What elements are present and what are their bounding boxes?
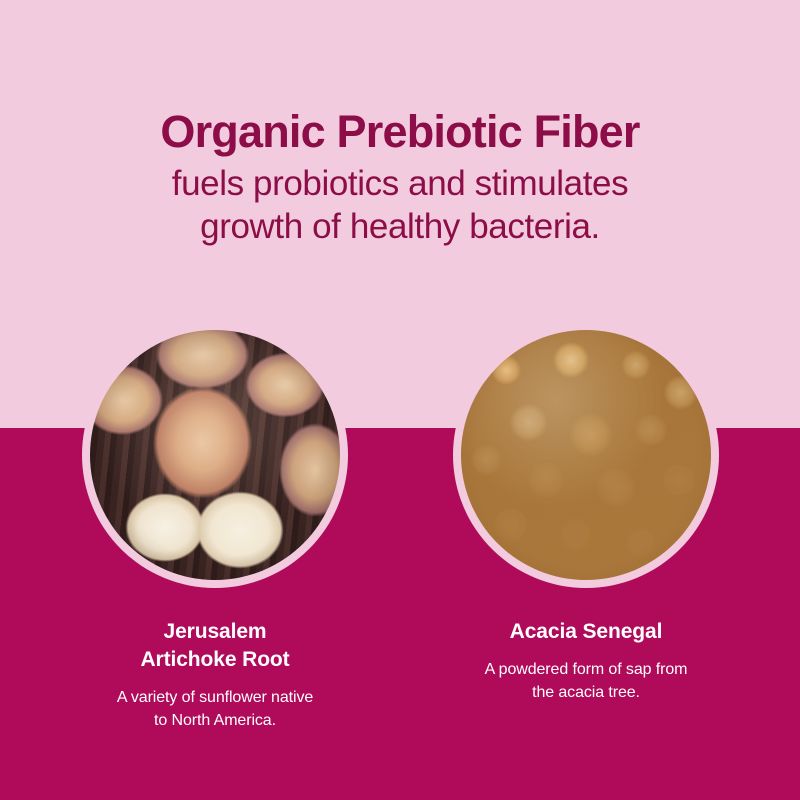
ingredient-caption-acacia-senegal: Acacia Senegal A powdered form of sap fr… (421, 618, 751, 704)
page-subtitle: fuels probiotics and stimulates growth o… (0, 162, 800, 249)
ingredient-caption-jerusalem-artichoke: Jerusalem Artichoke Root A variety of su… (50, 618, 380, 732)
ingredient-image-jerusalem-artichoke (82, 322, 348, 588)
ingredient-title-line-1: Jerusalem (50, 618, 380, 646)
page-title: Organic Prebiotic Fiber (0, 108, 800, 156)
page-subtitle-line-1: fuels probiotics and stimulates (0, 162, 800, 205)
ingredient-description-line-2: to North America. (50, 709, 380, 732)
ingredient-image-acacia-senegal (453, 322, 719, 588)
ingredient-description: A powdered form of sap from the acacia t… (421, 658, 751, 704)
ingredient-description-line-1: A variety of sunflower native (50, 686, 380, 709)
ingredient-description-line-2: the acacia tree. (421, 681, 751, 704)
acacia-gum-photo (461, 330, 711, 580)
jerusalem-artichoke-photo (90, 330, 340, 580)
ingredient-description: A variety of sunflower native to North A… (50, 686, 380, 732)
headline-block: Organic Prebiotic Fiber fuels probiotics… (0, 108, 800, 248)
ingredient-title: Jerusalem Artichoke Root (50, 618, 380, 674)
ingredient-title-line-2: Artichoke Root (50, 646, 380, 674)
page-subtitle-line-2: growth of healthy bacteria. (0, 205, 800, 248)
ingredient-title-line-1: Acacia Senegal (421, 618, 751, 646)
prebiotic-fiber-poster: Organic Prebiotic Fiber fuels probiotics… (0, 0, 800, 800)
ingredient-description-line-1: A powdered form of sap from (421, 658, 751, 681)
ingredient-title: Acacia Senegal (421, 618, 751, 646)
